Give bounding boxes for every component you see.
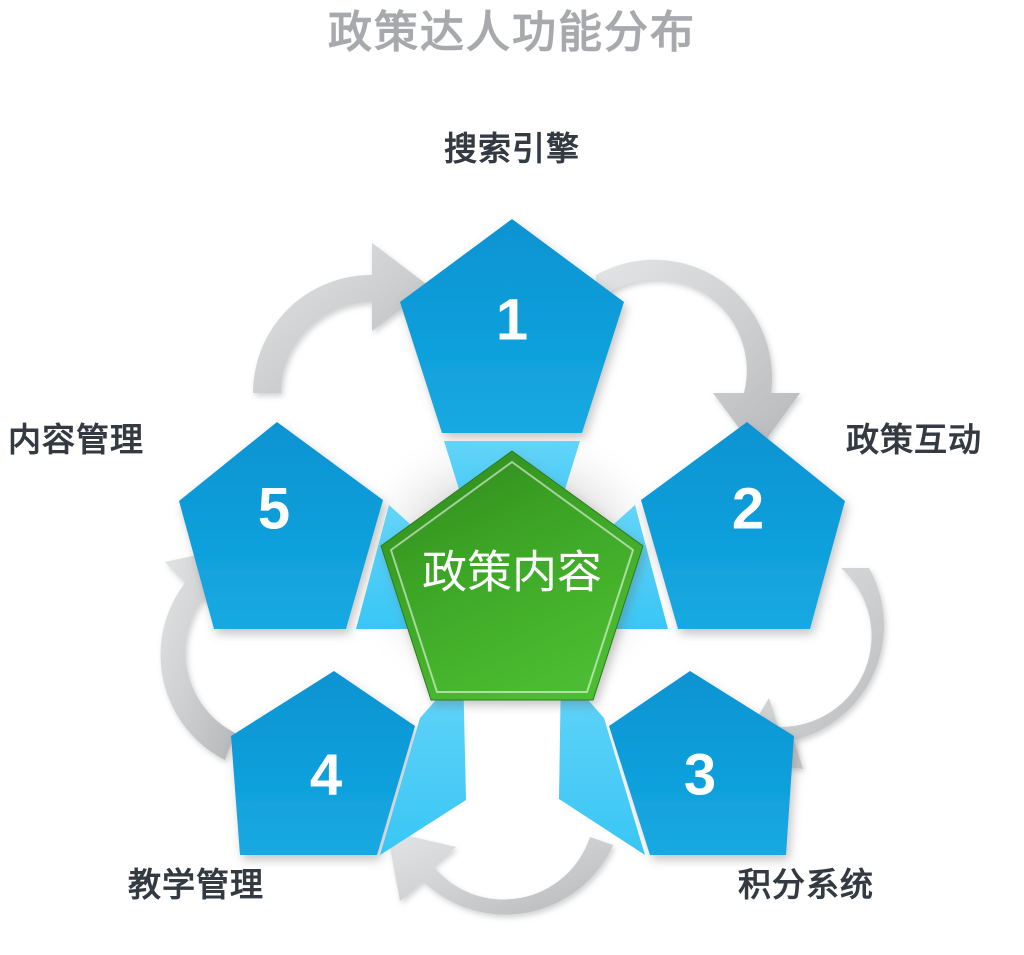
label-petal-1: 搜索引擎	[0, 122, 1024, 170]
diagram-canvas: 政策达人功能分布	[0, 0, 1024, 955]
label-petal-2: 政策互动	[846, 413, 982, 461]
arrow-1-to-2	[596, 260, 800, 452]
label-petal-4: 教学管理	[128, 858, 264, 906]
center-label: 政策内容	[422, 547, 602, 598]
petal-3-number: 3	[684, 743, 716, 808]
petal-2-number: 2	[732, 477, 764, 542]
petal-4-number: 4	[310, 743, 342, 808]
arrow-5-to-1	[253, 243, 430, 393]
petal-1-number: 1	[496, 288, 528, 353]
arrow-3-to-4	[387, 831, 613, 915]
label-petal-5: 内容管理	[8, 413, 144, 461]
petal-5-number: 5	[258, 477, 290, 542]
label-petal-3: 积分系统	[738, 858, 874, 906]
